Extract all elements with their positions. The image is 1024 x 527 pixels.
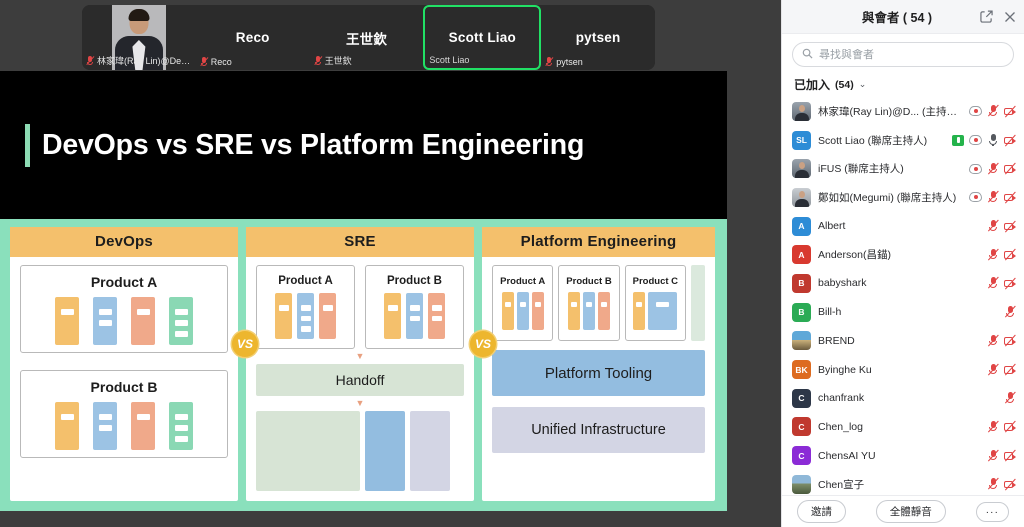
chevron-down-icon[interactable]: ⌄ bbox=[859, 79, 867, 90]
avatar: C bbox=[792, 389, 811, 408]
participant-status-icons bbox=[987, 249, 1016, 261]
product-label: Product A bbox=[500, 276, 545, 287]
mic-muted-icon[interactable] bbox=[987, 163, 999, 175]
participant-status-icons bbox=[1004, 306, 1016, 318]
video-off-icon[interactable] bbox=[1004, 163, 1016, 175]
video-off-icon[interactable] bbox=[1004, 364, 1016, 376]
participant-name: Scott Liao (聯席主持人) bbox=[818, 133, 945, 148]
service-bar-notch bbox=[410, 305, 420, 311]
column-header-platform-engineering: Platform Engineering bbox=[482, 227, 715, 257]
video-off-icon[interactable] bbox=[1004, 220, 1016, 232]
service-bar bbox=[648, 292, 677, 330]
avatar: A bbox=[792, 217, 811, 236]
product-label: Product B bbox=[566, 276, 611, 287]
avatar: C bbox=[792, 417, 811, 436]
video-tile-name: pytsen bbox=[576, 30, 621, 45]
joined-section-header[interactable]: 已加入 (54) ⌄ bbox=[782, 71, 1024, 97]
vs-badge-1: VS bbox=[232, 331, 258, 357]
participant-name: Bill-h bbox=[818, 306, 997, 318]
slide-title-band: DevOps vs SRE vs Platform Engineering bbox=[0, 71, 727, 219]
service-bar bbox=[598, 292, 610, 330]
avatar bbox=[792, 475, 811, 494]
service-bar-notch bbox=[137, 309, 150, 315]
participant-name: chanfrank bbox=[818, 392, 997, 404]
participant-name: Chen宣子 bbox=[818, 477, 980, 492]
participant-status-icons bbox=[987, 220, 1016, 232]
participant-name: Anderson(昌錨) bbox=[818, 247, 980, 262]
product-label: Product B bbox=[387, 275, 442, 287]
participants-panel-header: 與會者 ( 54 ) bbox=[782, 0, 1024, 34]
mic-muted-icon bbox=[200, 57, 208, 67]
service-bar bbox=[532, 292, 544, 330]
product-label: Product B bbox=[91, 379, 158, 395]
participant-name: babyshark bbox=[818, 277, 980, 289]
platform-tooling-band: Platform Tooling bbox=[492, 350, 705, 396]
service-bar bbox=[517, 292, 529, 330]
service-bar bbox=[406, 293, 423, 339]
participant-list[interactable]: 林家瑋(Ray Lin)@D... (主持人, 我)SLScott Liao (… bbox=[782, 97, 1024, 495]
video-tile-3[interactable]: Scott LiaoScott Liao bbox=[423, 5, 541, 70]
avatar bbox=[792, 188, 811, 207]
unified-infrastructure-band: Unified Infrastructure bbox=[492, 407, 705, 453]
video-tile-footer: 王世欽 bbox=[314, 54, 420, 67]
screen-share-icon[interactable] bbox=[952, 135, 964, 146]
column-body-sre: Product AProduct B▼Handoff▼ bbox=[246, 257, 474, 501]
mic-muted-icon[interactable] bbox=[987, 277, 999, 289]
invite-button[interactable]: 邀請 bbox=[797, 500, 846, 523]
overflow-placeholder bbox=[691, 265, 705, 341]
mic-muted-icon[interactable] bbox=[987, 450, 999, 462]
participant-row[interactable]: iFUS (聯席主持人) bbox=[782, 154, 1024, 183]
participant-row[interactable]: AAlbert bbox=[782, 212, 1024, 241]
service-bars bbox=[502, 292, 544, 330]
service-bars bbox=[384, 293, 445, 339]
mic-muted-icon[interactable] bbox=[987, 421, 999, 433]
recording-icon[interactable] bbox=[969, 135, 982, 145]
participant-status-icons bbox=[969, 163, 1016, 175]
product-box: Product B bbox=[365, 265, 464, 349]
avatar: A bbox=[792, 245, 811, 264]
column-body-platform-engineering: Product AProduct BProduct CPlatform Tool… bbox=[482, 257, 715, 501]
participant-name: 鄭如如(Megumi) (聯席主持人) bbox=[818, 190, 962, 205]
sre-bottom-block bbox=[410, 411, 450, 491]
service-bar bbox=[131, 297, 155, 345]
service-bar-notch bbox=[279, 305, 289, 311]
video-tile-0[interactable]: 林家瑋(Ray Lin)@Dev... bbox=[82, 5, 196, 70]
product-row: Product AProduct B bbox=[256, 265, 464, 349]
mic-muted-icon[interactable] bbox=[987, 364, 999, 376]
video-tile-name: Reco bbox=[236, 30, 270, 45]
service-bar bbox=[502, 292, 514, 330]
service-bar-notch bbox=[586, 302, 592, 307]
product-box: Product A bbox=[20, 265, 228, 353]
video-tile-footer: 林家瑋(Ray Lin)@Dev... bbox=[86, 54, 192, 67]
service-bar bbox=[583, 292, 595, 330]
service-bar-notch bbox=[301, 305, 311, 311]
service-bars bbox=[55, 297, 193, 345]
participant-name: Byinghe Ku bbox=[818, 364, 980, 376]
service-bar-notch bbox=[99, 309, 112, 315]
shared-screen-slide: DevOps vs SRE vs Platform Engineering De… bbox=[0, 71, 727, 511]
service-bar-notch bbox=[175, 320, 188, 326]
service-bars bbox=[568, 292, 610, 330]
product-label: Product A bbox=[91, 274, 157, 290]
more-options-button[interactable]: ··· bbox=[976, 502, 1010, 522]
service-bar-notch bbox=[410, 316, 420, 322]
video-off-icon[interactable] bbox=[1004, 421, 1016, 433]
video-tile-1[interactable]: RecoReco bbox=[196, 5, 310, 70]
close-icon[interactable] bbox=[1000, 7, 1020, 27]
service-bar-notch bbox=[175, 414, 188, 420]
service-bar-notch bbox=[601, 302, 607, 307]
service-bar-notch bbox=[301, 316, 311, 322]
participants-search-wrap bbox=[782, 34, 1024, 71]
service-bars bbox=[55, 402, 193, 450]
avatar: BK bbox=[792, 360, 811, 379]
video-tile-label: pytsen bbox=[556, 57, 583, 67]
service-bar-notch bbox=[535, 302, 541, 307]
service-bar-notch bbox=[301, 326, 311, 332]
video-tile-label: 林家瑋(Ray Lin)@Dev... bbox=[97, 54, 192, 67]
participant-status-icons bbox=[987, 335, 1016, 347]
avatar: SL bbox=[792, 131, 811, 150]
service-bar-notch bbox=[175, 425, 188, 431]
diagram-column-sre: SREProduct AProduct B▼Handoff▼ bbox=[246, 227, 474, 501]
avatar bbox=[792, 159, 811, 178]
service-bar bbox=[169, 402, 193, 450]
participant-status-icons bbox=[987, 450, 1016, 462]
product-box: Product A bbox=[256, 265, 355, 349]
video-tile-label: 王世欽 bbox=[325, 54, 352, 67]
service-bar bbox=[93, 297, 117, 345]
product-row: Product AProduct BProduct C bbox=[492, 265, 705, 341]
video-off-icon[interactable] bbox=[1004, 105, 1016, 117]
mute-all-button[interactable]: 全體靜音 bbox=[876, 500, 946, 523]
service-bars bbox=[633, 292, 677, 330]
mic-muted-icon[interactable] bbox=[1004, 306, 1016, 318]
video-tile-2[interactable]: 王世欽王世欽 bbox=[310, 5, 424, 70]
video-off-icon[interactable] bbox=[1004, 134, 1016, 146]
video-off-icon[interactable] bbox=[1004, 249, 1016, 261]
participant-row[interactable]: CChen_log bbox=[782, 413, 1024, 442]
participant-row[interactable]: SLScott Liao (聯席主持人) bbox=[782, 126, 1024, 155]
video-off-icon[interactable] bbox=[1004, 191, 1016, 203]
service-bar bbox=[568, 292, 580, 330]
participant-status-icons bbox=[952, 134, 1016, 146]
participant-name: BREND bbox=[818, 335, 980, 347]
participant-filmstrip[interactable]: 林家瑋(Ray Lin)@Dev...RecoReco王世欽王世欽Scott L… bbox=[82, 5, 655, 70]
mic-muted-icon bbox=[545, 57, 553, 67]
video-tile-4[interactable]: pytsenpytsen bbox=[541, 5, 655, 70]
service-bar-notch bbox=[656, 302, 669, 307]
comparison-diagram: DevOpsProduct AProduct BSREProduct AProd… bbox=[0, 219, 727, 511]
mic-muted-icon[interactable] bbox=[987, 249, 999, 261]
participant-row[interactable]: Cchanfrank bbox=[782, 384, 1024, 413]
participant-name: iFUS (聯席主持人) bbox=[818, 161, 962, 176]
participant-status-icons bbox=[969, 191, 1016, 203]
video-tile-name: 王世欽 bbox=[346, 28, 387, 48]
participant-status-icons bbox=[987, 478, 1016, 490]
service-bar bbox=[93, 402, 117, 450]
video-off-icon[interactable] bbox=[1004, 478, 1016, 490]
avatar bbox=[792, 102, 811, 121]
diagram-column-devops: DevOpsProduct AProduct B bbox=[10, 227, 238, 501]
service-bar-notch bbox=[61, 309, 74, 315]
service-bar-notch bbox=[571, 302, 577, 307]
mic-muted-icon[interactable] bbox=[987, 335, 999, 347]
mic-muted-icon[interactable] bbox=[987, 220, 999, 232]
flow-arrow-icon: ▼ bbox=[256, 349, 464, 364]
meeting-stage: 林家瑋(Ray Lin)@Dev...RecoReco王世欽王世欽Scott L… bbox=[0, 0, 781, 527]
column-header-devops: DevOps bbox=[10, 227, 238, 257]
service-bar-notch bbox=[175, 436, 188, 442]
participant-row[interactable]: BREND bbox=[782, 327, 1024, 356]
mic-muted-icon[interactable] bbox=[987, 105, 999, 117]
service-bar-notch bbox=[432, 305, 442, 311]
title-accent-bar bbox=[25, 124, 30, 167]
service-bar-notch bbox=[323, 305, 333, 311]
service-bar-notch bbox=[175, 309, 188, 315]
avatar: B bbox=[792, 274, 811, 293]
participant-row[interactable]: 鄭如如(Megumi) (聯席主持人) bbox=[782, 183, 1024, 212]
mic-muted-icon[interactable] bbox=[1004, 392, 1016, 404]
participant-row[interactable]: BKByinghe Ku bbox=[782, 355, 1024, 384]
search-icon bbox=[802, 46, 813, 64]
mic-muted-icon bbox=[314, 56, 322, 66]
service-bar-notch bbox=[175, 331, 188, 337]
product-label: Product A bbox=[278, 275, 333, 287]
mic-muted-icon[interactable] bbox=[987, 191, 999, 203]
mic-muted-icon bbox=[86, 56, 94, 66]
participant-row[interactable]: 林家瑋(Ray Lin)@D... (主持人, 我) bbox=[782, 97, 1024, 126]
video-off-icon[interactable] bbox=[1004, 277, 1016, 289]
avatar: C bbox=[792, 446, 811, 465]
participant-status-icons bbox=[987, 364, 1016, 376]
video-tile-footer: Reco bbox=[200, 57, 306, 67]
zoom-meeting-window: 林家瑋(Ray Lin)@Dev...RecoReco王世欽王世欽Scott L… bbox=[0, 0, 1024, 527]
sre-bottom-block bbox=[256, 411, 360, 491]
sre-bottom-blocks bbox=[256, 411, 464, 491]
product-box: Product A bbox=[492, 265, 553, 341]
video-off-icon[interactable] bbox=[1004, 335, 1016, 347]
service-bar bbox=[319, 293, 336, 339]
service-bar-notch bbox=[61, 414, 74, 420]
external-link-icon[interactable] bbox=[976, 7, 996, 27]
service-bar bbox=[428, 293, 445, 339]
service-bar-notch bbox=[137, 414, 150, 420]
column-body-devops: Product AProduct B bbox=[10, 257, 238, 501]
joined-label: 已加入 bbox=[794, 76, 830, 93]
service-bar-notch bbox=[99, 414, 112, 420]
service-bar bbox=[169, 297, 193, 345]
participant-row[interactable]: CChensAI YU bbox=[782, 441, 1024, 470]
video-tile-footer: Scott Liao bbox=[429, 55, 535, 65]
service-bar bbox=[55, 402, 79, 450]
product-label: Product C bbox=[633, 276, 678, 287]
avatar: B bbox=[792, 303, 811, 322]
participant-name: 林家瑋(Ray Lin)@D... (主持人, 我) bbox=[818, 104, 962, 119]
video-tile-label: Scott Liao bbox=[429, 55, 469, 65]
service-bar-notch bbox=[99, 425, 112, 431]
service-bars bbox=[275, 293, 336, 339]
diagram-column-platform-engineering: Platform EngineeringProduct AProduct BPr… bbox=[482, 227, 715, 501]
recording-icon[interactable] bbox=[969, 106, 982, 116]
recording-icon[interactable] bbox=[969, 164, 982, 174]
column-header-sre: SRE bbox=[246, 227, 474, 257]
participant-row[interactable]: Chen宣子 bbox=[782, 470, 1024, 495]
service-bar-notch bbox=[636, 302, 642, 307]
service-bar-notch bbox=[505, 302, 511, 307]
service-bar bbox=[297, 293, 314, 339]
participants-panel-footer: 邀請 全體靜音 ··· bbox=[782, 495, 1024, 527]
search-input[interactable] bbox=[819, 49, 1004, 61]
mic-muted-icon[interactable] bbox=[987, 478, 999, 490]
service-bar bbox=[55, 297, 79, 345]
sre-bottom-block bbox=[365, 411, 405, 491]
handoff-band: Handoff bbox=[256, 364, 464, 396]
product-box: Product B bbox=[20, 370, 228, 458]
mic-on-icon[interactable] bbox=[987, 134, 999, 146]
video-tile-label: Reco bbox=[211, 57, 232, 67]
vs-badge-2: VS bbox=[470, 331, 496, 357]
video-tile-footer: pytsen bbox=[545, 57, 651, 67]
search-box[interactable] bbox=[792, 42, 1014, 67]
avatar bbox=[792, 331, 811, 350]
participant-row[interactable]: AAnderson(昌錨) bbox=[782, 240, 1024, 269]
flow-arrow-icon: ▼ bbox=[256, 396, 464, 411]
participant-name: ChensAI YU bbox=[818, 450, 980, 462]
service-bar-notch bbox=[99, 320, 112, 326]
service-bar-notch bbox=[388, 305, 398, 311]
slide-title: DevOps vs SRE vs Platform Engineering bbox=[42, 129, 584, 162]
joined-count: (54) bbox=[835, 79, 854, 91]
service-bar bbox=[131, 402, 155, 450]
service-bar-notch bbox=[432, 316, 442, 322]
service-bar-notch bbox=[520, 302, 526, 307]
service-bar bbox=[275, 293, 292, 339]
participant-status-icons bbox=[987, 277, 1016, 289]
participant-row[interactable]: Bbabyshark bbox=[782, 269, 1024, 298]
service-bar bbox=[384, 293, 401, 339]
participant-status-icons bbox=[1004, 392, 1016, 404]
participant-status-icons bbox=[987, 421, 1016, 433]
participants-panel: 與會者 ( 54 ) bbox=[781, 0, 1024, 527]
service-bar bbox=[633, 292, 645, 330]
recording-icon[interactable] bbox=[969, 192, 982, 202]
participants-panel-title: 與會者 ( 54 ) bbox=[782, 7, 976, 26]
video-tile-name: Scott Liao bbox=[449, 30, 516, 45]
participant-status-icons bbox=[969, 105, 1016, 117]
product-box: Product C bbox=[625, 265, 686, 341]
video-off-icon[interactable] bbox=[1004, 450, 1016, 462]
participant-name: Albert bbox=[818, 220, 980, 232]
participant-row[interactable]: BBill-h bbox=[782, 298, 1024, 327]
participant-name: Chen_log bbox=[818, 421, 980, 433]
product-box: Product B bbox=[558, 265, 619, 341]
